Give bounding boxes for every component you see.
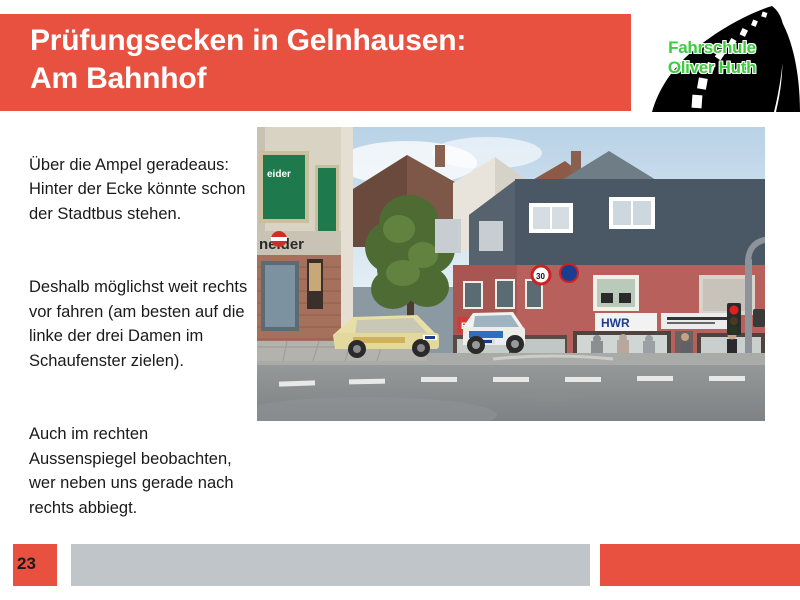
content-paragraph-1: Über die Ampel geradeaus: Hinter der Eck… [29,153,251,227]
winding-road-icon [624,2,800,114]
page-number: 23 [17,554,36,574]
content-paragraph-3: Auch im rechten Aussenspiegel beobachten… [29,422,251,520]
svg-text:HWR: HWR [601,316,630,330]
content-text-block: Über die Ampel geradeaus: Hinter der Eck… [29,128,251,545]
footer-red-bar [600,544,800,586]
svg-text:30: 30 [536,272,545,281]
svg-text:eider: eider [267,169,291,180]
fahrschule-logo: Fahrschule Oliver Huth [624,2,800,114]
footer-gray-bar [71,544,590,586]
street-scene-photo: eider neider [257,127,765,421]
content-paragraph-2: Deshalb möglichst weit rechts vor fahren… [29,275,251,373]
slide-canvas: Prüfungsecken in Gelnhausen: Am Bahnhof … [0,0,800,600]
page-title: Prüfungsecken in Gelnhausen: Am Bahnhof [30,22,630,98]
page-number-badge: 23 [13,544,57,586]
street-scene-illustration: eider neider [257,127,765,421]
